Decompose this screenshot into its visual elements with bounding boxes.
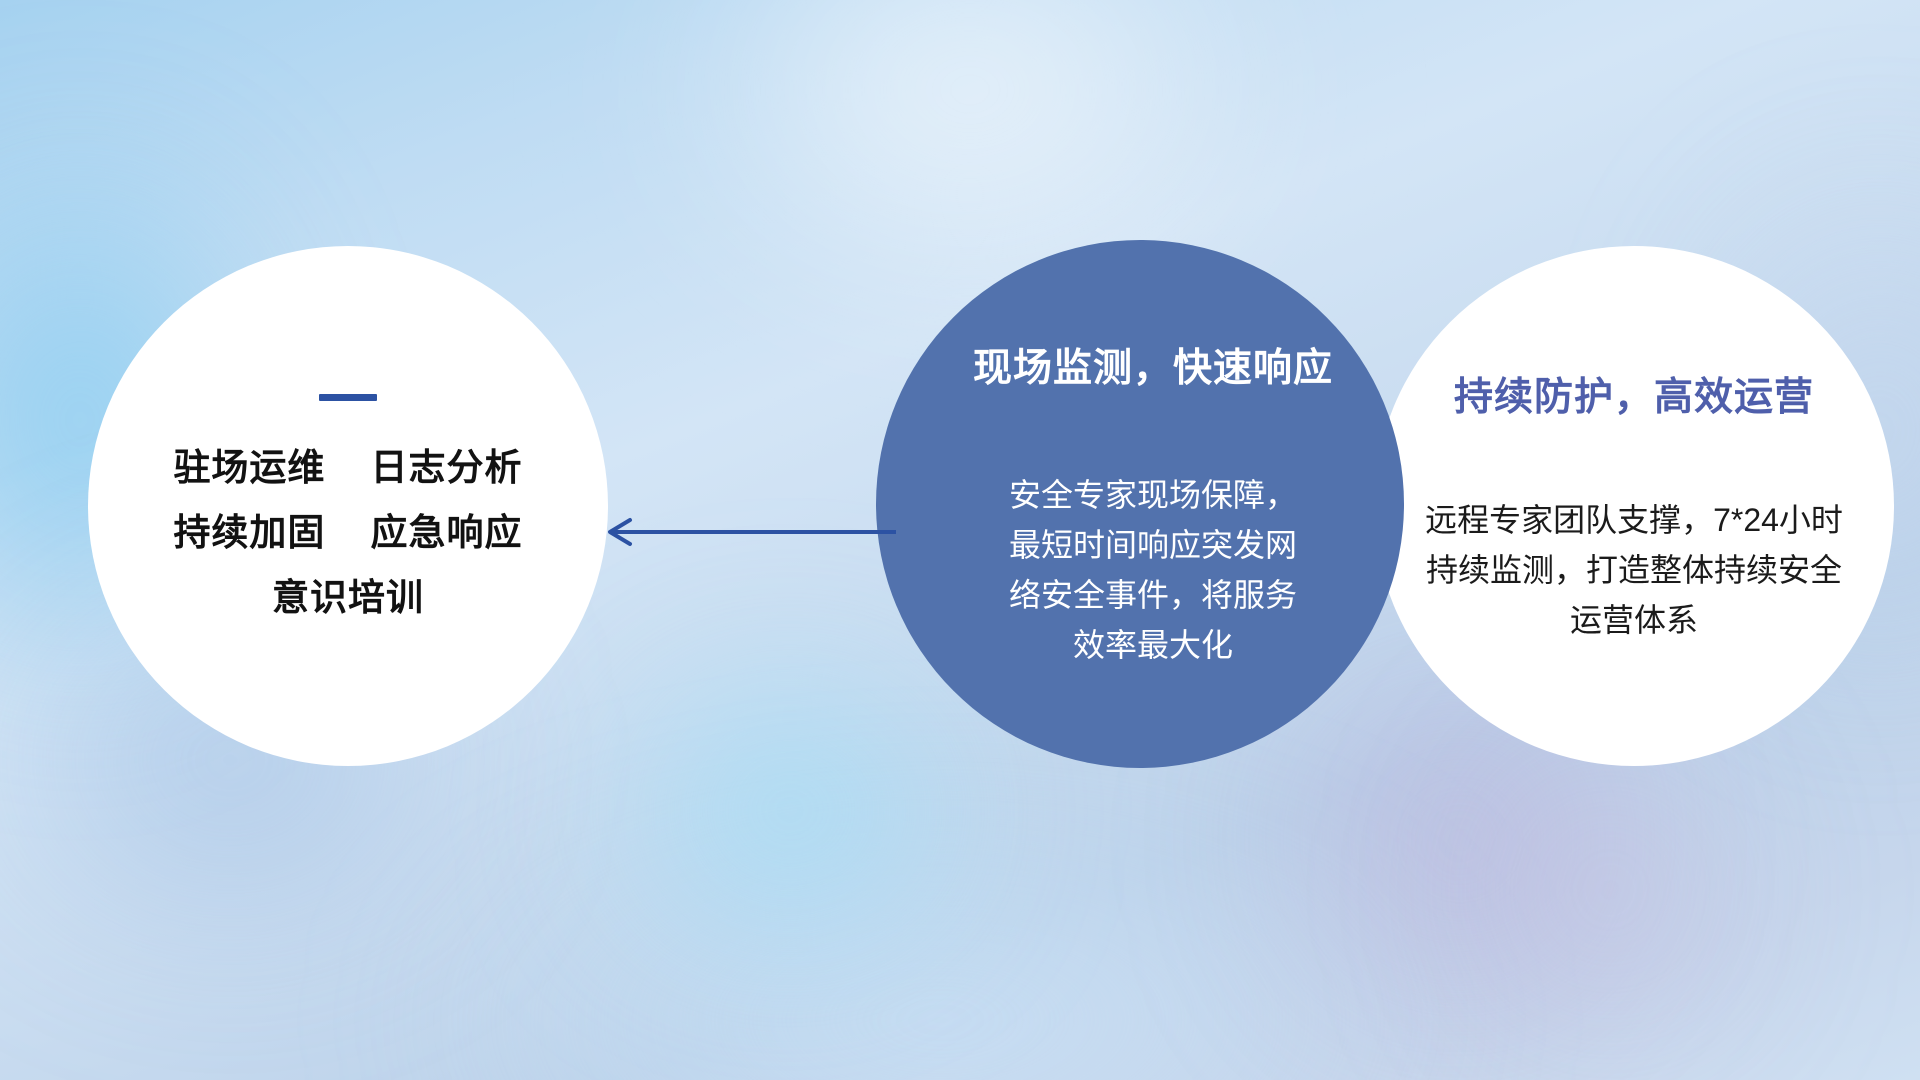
service-capabilities-circle[interactable]: 驻场运维 日志分析 持续加固 应急响应 意识培训 — [88, 246, 608, 766]
arrow-left-icon — [596, 512, 896, 552]
card-body: 远程专家团队支撑，7*24小时持续监测，打造整体持续安全运营体系 — [1424, 496, 1844, 646]
slide-canvas: 驻场运维 日志分析 持续加固 应急响应 意识培训 现场监测，快速响应 安全专家现… — [0, 0, 1920, 1080]
list-item: 持续加固 应急响应 — [173, 514, 522, 553]
list-item: 意识培训 — [173, 579, 522, 618]
short-dash-divider-icon — [319, 394, 377, 401]
list-item: 驻场运维 日志分析 — [173, 449, 522, 488]
card-title: 现场监测，快速响应 — [947, 337, 1333, 393]
continuous-protection-circle[interactable]: 持续防护，高效运营 远程专家团队支撑，7*24小时持续监测，打造整体持续安全运营… — [1374, 246, 1894, 766]
card-title: 持续防护，高效运营 — [1454, 366, 1814, 422]
connector-arrow — [596, 512, 896, 552]
onsite-monitoring-circle[interactable]: 现场监测，快速响应 安全专家现场保障，最短时间响应突发网络安全事件，将服务效率最… — [876, 240, 1404, 768]
card-body: 安全专家现场保障，最短时间响应突发网络安全事件，将服务效率最大化 — [975, 471, 1305, 671]
service-capabilities-list: 驻场运维 日志分析 持续加固 应急响应 意识培训 — [173, 449, 522, 618]
